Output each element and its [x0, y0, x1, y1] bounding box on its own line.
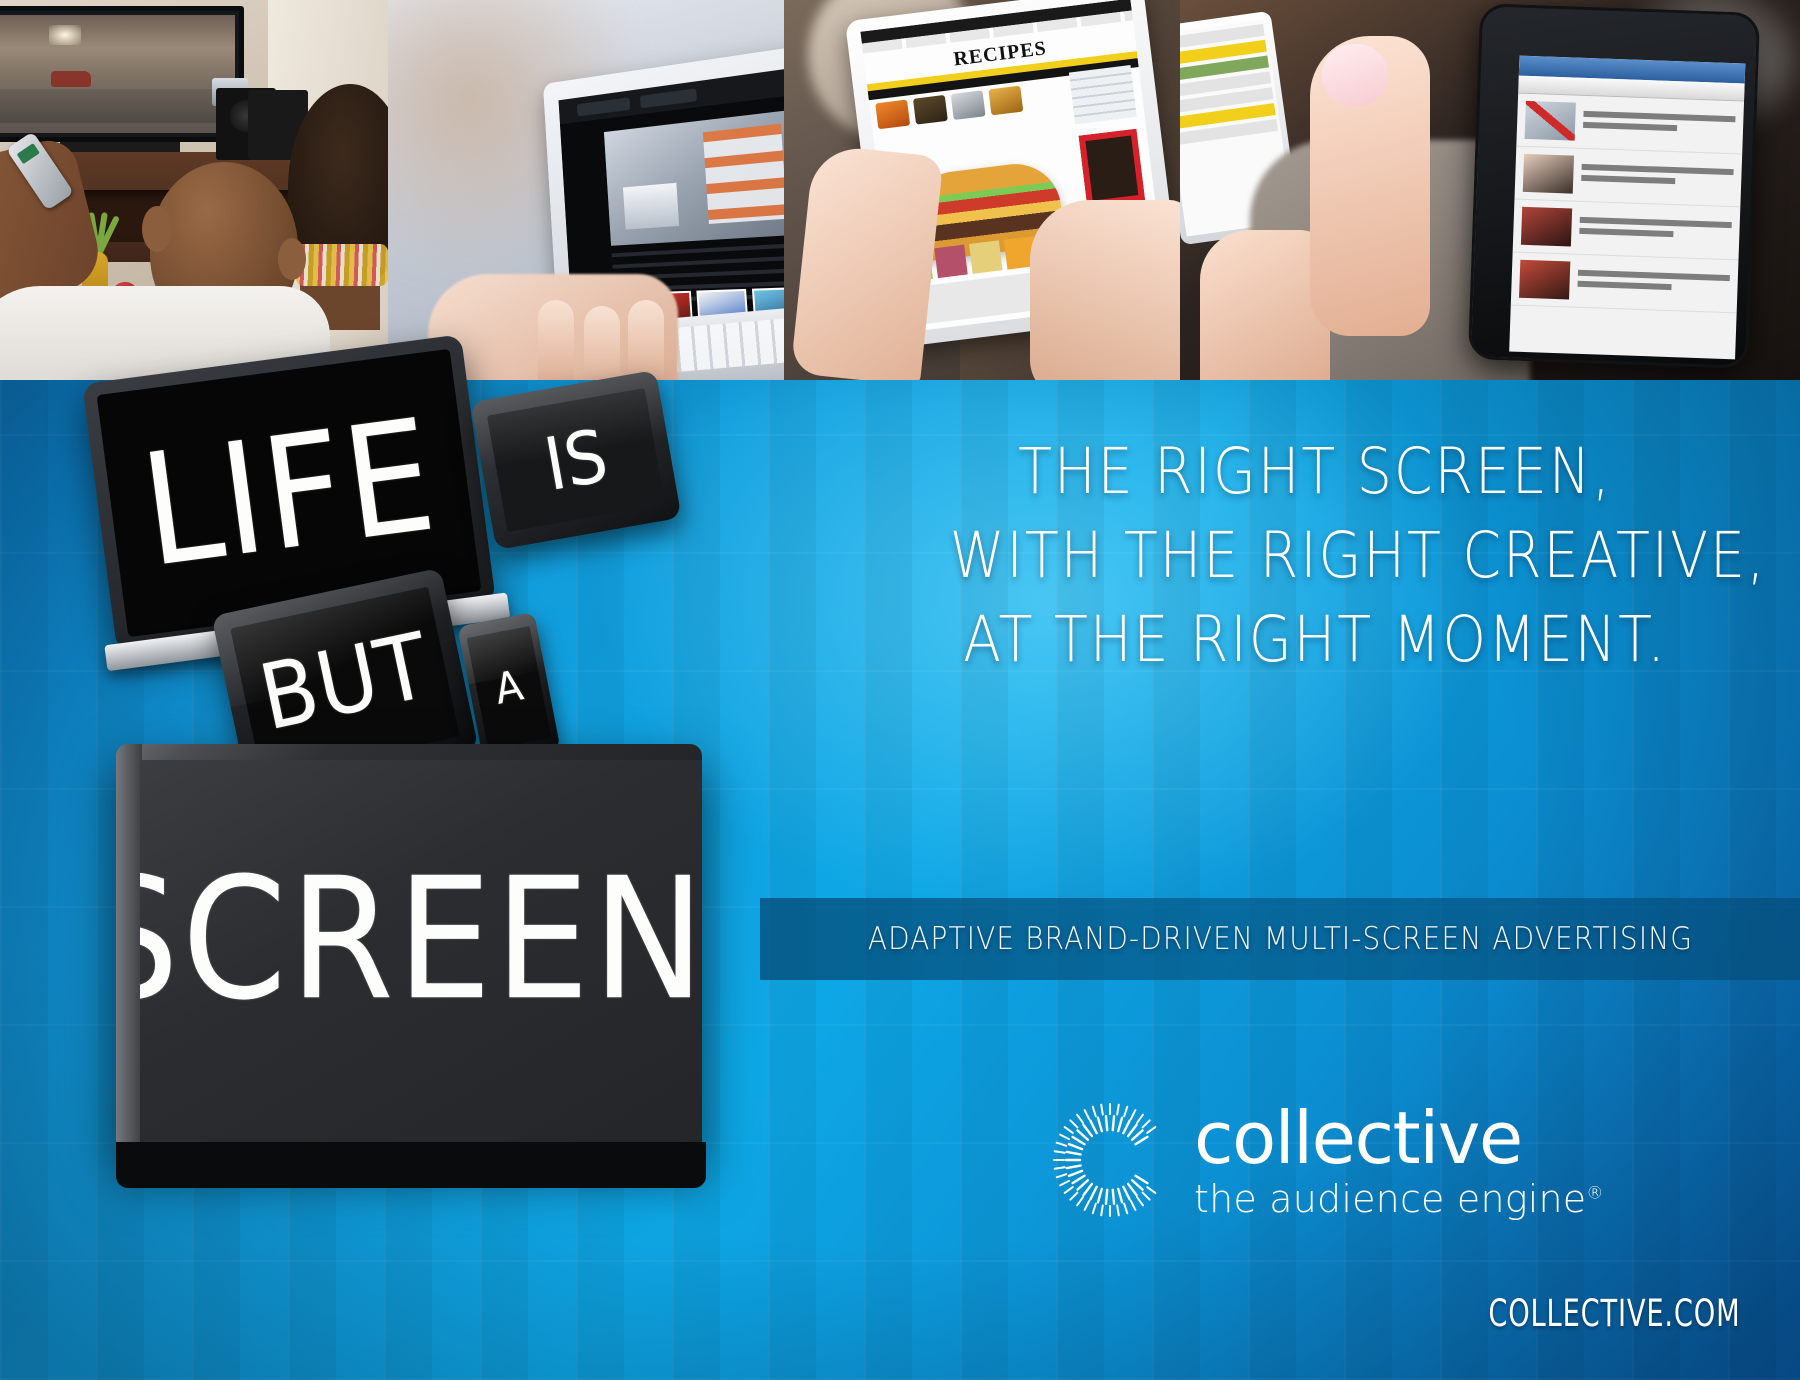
collective-burst-icon [1050, 1100, 1170, 1220]
monitor-foot [116, 1142, 706, 1188]
hand-left [790, 144, 943, 380]
wordmark-tagline-text: the audience engine [1194, 1177, 1586, 1221]
finger-3 [628, 300, 664, 380]
news-list-item [1511, 253, 1739, 314]
monitor-bezel [116, 744, 142, 1156]
news-list-item [1513, 200, 1741, 261]
photo-panel-tv-living-room [0, 0, 388, 380]
photo-strip: RECIPES [0, 0, 1800, 380]
word-life: LIFE [132, 385, 445, 602]
man-ear-left [142, 206, 172, 252]
television-set [0, 6, 244, 142]
news-list-item [1516, 94, 1744, 155]
headline-line-2: WITH THE RIGHT CREATIVE, [950, 514, 1680, 598]
wordmark-tagline: the audience engine® [1194, 1180, 1604, 1218]
headline-line-1: THE RIGHT SCREEN, [950, 430, 1680, 514]
phone-screen [1509, 56, 1745, 360]
photo-panel-smartphone-news [1180, 0, 1800, 380]
word-screen: SCREEN. [140, 843, 702, 1038]
video-player [604, 110, 784, 246]
finger-1 [538, 300, 574, 380]
tagline-text: ADAPTIVE BRAND-DRIVEN MULTI-SCREEN ADVER… [867, 921, 1692, 957]
tv-picture [0, 15, 235, 133]
photo-panel-laptop-video [388, 0, 784, 380]
wordmark: collective the audience engine® [1194, 1102, 1604, 1218]
tagline-band: ADAPTIVE BRAND-DRIVEN MULTI-SCREEN ADVER… [760, 898, 1800, 980]
man-ear-right [278, 238, 306, 280]
headline: THE RIGHT SCREEN, WITH THE RIGHT CREATIV… [950, 430, 1680, 681]
fingernail [1322, 44, 1388, 106]
smartphone-device [1468, 3, 1760, 369]
red-ad-box [1079, 129, 1145, 208]
trademark-symbol: ® [1586, 1183, 1603, 1203]
beaded-necklace [296, 244, 388, 286]
sidebar-block [1069, 65, 1137, 124]
tv-stand [60, 142, 180, 152]
headline-line-3: AT THE RIGHT MOMENT. [950, 598, 1680, 682]
finger-2 [584, 306, 620, 380]
word-but: BUT [251, 614, 438, 751]
word-a: A [491, 662, 527, 715]
brand-logo-lockup: collective the audience engine® [1050, 1100, 1604, 1220]
hand-right [1030, 200, 1180, 380]
news-list-item [1514, 147, 1742, 208]
phone-screen-a: A [467, 626, 552, 750]
monitor-screen-screen: SCREEN. [140, 760, 702, 1156]
website-url: COLLECTIVE.COM [1488, 1292, 1740, 1335]
wordmark-collective: collective [1194, 1102, 1604, 1174]
photo-panel-tablet-recipes: RECIPES [784, 0, 1180, 380]
device-tablet-is: IS [470, 370, 681, 550]
advertisement-poster: RECIPES [0, 0, 1800, 1380]
tablet-screen-is: IS [487, 388, 665, 532]
word-is: IS [538, 413, 613, 507]
device-monitor-screen: SCREEN. [116, 744, 702, 1156]
